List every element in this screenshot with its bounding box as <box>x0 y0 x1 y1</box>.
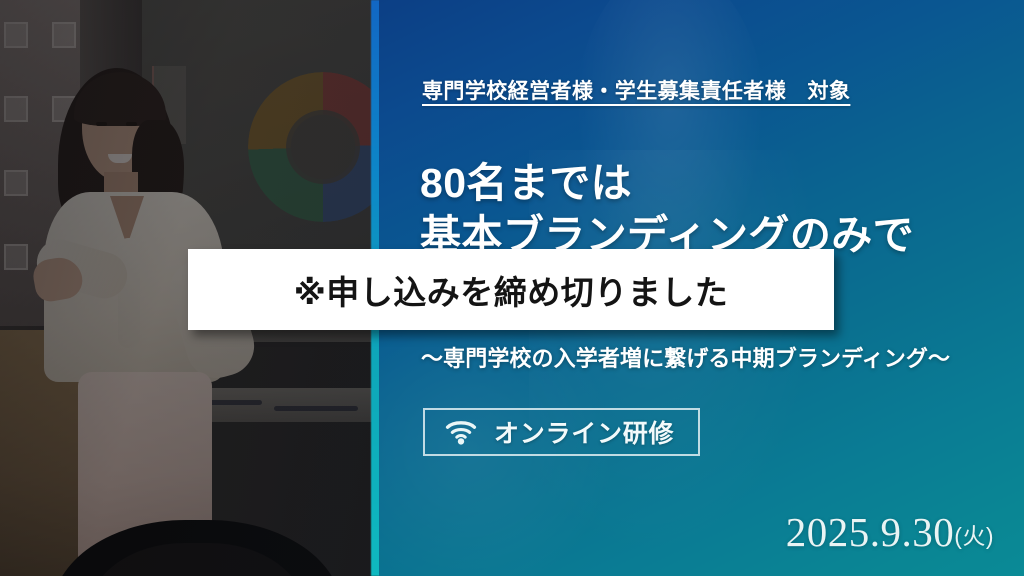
event-date: 2025.9.30(火) <box>786 508 994 556</box>
target-audience-label: 専門学校経営者様・学生募集責任者様 対象 <box>422 75 850 105</box>
banner-stage: 専門学校経営者様・学生募集責任者様 対象 80名までは 基本ブランディングのみで… <box>0 0 1024 576</box>
headline-line-1: 80名までは <box>420 157 914 209</box>
event-date-value: 2025.9.30 <box>786 509 954 555</box>
online-training-badge: オンライン研修 <box>423 408 700 456</box>
subtitle: 〜専門学校の入学者増に繋げる中期ブランディング〜 <box>421 341 950 373</box>
closed-notice-banner: ※申し込みを締め切りました <box>188 249 834 330</box>
online-training-label: オンライン研修 <box>494 414 674 450</box>
event-day-of-week: (火) <box>954 523 994 549</box>
closed-notice-text: ※申し込みを締め切りました <box>294 266 729 314</box>
headline: 80名までは 基本ブランディングのみで <box>420 157 914 262</box>
wifi-icon <box>445 419 477 445</box>
